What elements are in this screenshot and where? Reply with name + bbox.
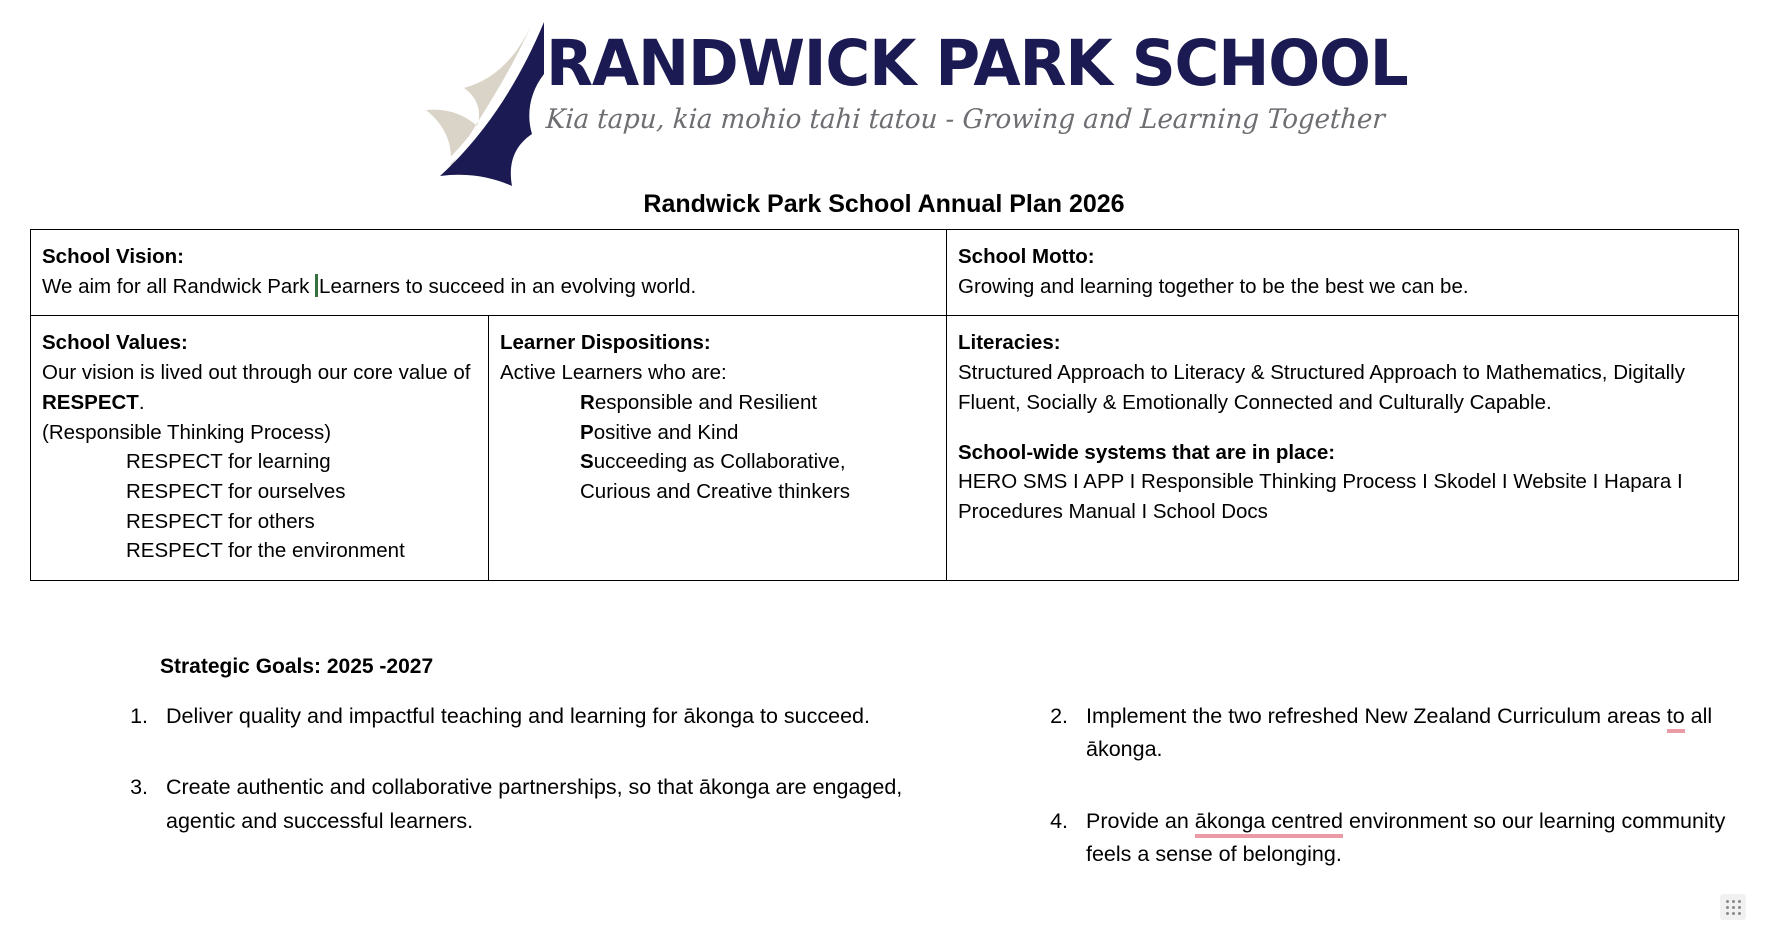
school-information-table: School Vision: We aim for all Randwick P… bbox=[30, 229, 1739, 581]
grid-dot bbox=[1738, 906, 1741, 909]
grid-dot bbox=[1732, 912, 1735, 915]
school-values-heading: School Values: bbox=[42, 328, 477, 358]
annual-plan-document: RANDWICK PARK SCHOOL Kia tapu, kia mohio… bbox=[0, 0, 1768, 938]
school-wide-systems-text: HERO SMS I APP I Responsible Thinking Pr… bbox=[958, 467, 1727, 526]
strategic-goals-column-right: 2. Implement the two refreshed New Zeala… bbox=[930, 700, 1740, 909]
values-respect-word: RESPECT bbox=[42, 391, 139, 414]
page-title: Randwick Park School Annual Plan 2026 bbox=[0, 190, 1768, 219]
goal-3-before: Create authentic and collaborative partn… bbox=[166, 775, 902, 832]
disposition-rest-0: esponsible and Resilient bbox=[595, 391, 817, 414]
strategic-goal-item-3[interactable]: 3. Create authentic and collaborative pa… bbox=[120, 771, 930, 838]
literacies-heading: Literacies: bbox=[958, 328, 1727, 358]
cell-literacies[interactable]: Literacies: Structured Approach to Liter… bbox=[947, 316, 1739, 581]
school-name-wordmark: RANDWICK PARK SCHOOL bbox=[546, 32, 1312, 95]
strategic-goal-item-1[interactable]: 1. Deliver quality and impactful teachin… bbox=[120, 700, 930, 733]
vision-text-after: Learners to succeed in an evolving world… bbox=[319, 275, 696, 298]
strategic-goal-item-4[interactable]: 4. Provide an ākonga centred environment… bbox=[1040, 805, 1740, 872]
grid-dots bbox=[1726, 900, 1741, 915]
goal-2-before: Implement the two refreshed New Zealand … bbox=[1086, 704, 1667, 728]
dispositions-intro: Active Learners who are: bbox=[500, 358, 935, 388]
cell-learner-dispositions[interactable]: Learner Dispositions: Active Learners wh… bbox=[489, 316, 947, 581]
school-vision-text: We aim for all Randwick Park Learners to… bbox=[42, 275, 696, 298]
disposition-rest-2: ucceeding as Collaborative, bbox=[594, 450, 846, 473]
goal-number-1: 1. bbox=[120, 700, 166, 733]
values-line2-suffix: . bbox=[139, 391, 145, 414]
goal-text-1: Deliver quality and impactful teaching a… bbox=[166, 700, 930, 733]
logo-text-block: RANDWICK PARK SCHOOL Kia tapu, kia mohio… bbox=[546, 32, 1336, 135]
disposition-initial-1: P bbox=[580, 421, 594, 444]
strategic-goals-heading: Strategic Goals: 2025 -2027 bbox=[160, 655, 433, 679]
literacies-text: Structured Approach to Literacy & Struct… bbox=[958, 358, 1727, 417]
school-wide-systems-heading: School-wide systems that are in place: bbox=[958, 438, 1727, 468]
goal-4-before: Provide an bbox=[1086, 809, 1195, 833]
goal-text-2: Implement the two refreshed New Zealand … bbox=[1086, 700, 1740, 767]
grid-dot bbox=[1726, 900, 1729, 903]
table-row-values-dispositions-literacies: School Values: Our vision is lived out t… bbox=[31, 316, 1739, 581]
disposition-item-0: Responsible and Resilient bbox=[500, 388, 935, 418]
grid-dot bbox=[1732, 900, 1735, 903]
strategic-goals-list: 1. Deliver quality and impactful teachin… bbox=[120, 700, 1740, 909]
school-logo-block: RANDWICK PARK SCHOOL Kia tapu, kia mohio… bbox=[398, 18, 1338, 178]
collaborator-text-caret bbox=[315, 274, 318, 297]
grid-handle-icon[interactable] bbox=[1720, 894, 1746, 920]
goal-number-2: 2. bbox=[1040, 700, 1086, 767]
goal-number-4: 4. bbox=[1040, 805, 1086, 872]
school-motto-heading: School Motto: bbox=[958, 242, 1727, 272]
grid-dot bbox=[1726, 912, 1729, 915]
school-tagline: Kia tapu, kia mohio tahi tatou - Growing… bbox=[545, 105, 1305, 135]
values-item-2: RESPECT for others bbox=[42, 507, 477, 537]
vision-text-before: We aim for all Randwick Park bbox=[42, 275, 315, 298]
table-row-vision-motto: School Vision: We aim for all Randwick P… bbox=[31, 230, 1739, 316]
grid-dot bbox=[1738, 900, 1741, 903]
values-item-3: RESPECT for the environment bbox=[42, 536, 477, 566]
disposition-initial-2: S bbox=[580, 450, 594, 473]
literacies-spacer bbox=[958, 418, 1727, 438]
learner-dispositions-heading: Learner Dispositions: bbox=[500, 328, 935, 358]
school-values-line1: Our vision is lived out through our core… bbox=[42, 361, 448, 384]
goal-number-3: 3. bbox=[120, 771, 166, 838]
values-item-0: RESPECT for learning bbox=[42, 447, 477, 477]
values-line2-prefix: of bbox=[453, 361, 470, 384]
cell-school-motto[interactable]: School Motto: Growing and learning toget… bbox=[947, 230, 1739, 316]
values-item-1: RESPECT for ourselves bbox=[42, 477, 477, 507]
cell-school-vision[interactable]: School Vision: We aim for all Randwick P… bbox=[31, 230, 947, 316]
school-leaf-logo-icon bbox=[398, 18, 548, 186]
grid-dot bbox=[1732, 906, 1735, 909]
disposition-rest-1: ositive and Kind bbox=[594, 421, 739, 444]
document-header: RANDWICK PARK SCHOOL Kia tapu, kia mohio… bbox=[0, 0, 1768, 200]
cell-school-values[interactable]: School Values: Our vision is lived out t… bbox=[31, 316, 489, 581]
goal-text-3: Create authentic and collaborative partn… bbox=[166, 771, 930, 838]
grid-dot bbox=[1738, 912, 1741, 915]
goal-text-4: Provide an ākonga centred environment so… bbox=[1086, 805, 1740, 872]
school-motto-text: Growing and learning together to be the … bbox=[958, 275, 1469, 298]
disposition-continuation: Curious and Creative thinkers bbox=[500, 477, 935, 507]
goal-1-before: Deliver quality and impactful teaching a… bbox=[166, 704, 870, 728]
goal-2-spellcheck-word[interactable]: to bbox=[1667, 704, 1685, 733]
school-values-line3: (Responsible Thinking Process) bbox=[42, 418, 477, 448]
disposition-item-2: Succeeding as Collaborative, bbox=[500, 447, 935, 477]
strategic-goals-column-left: 1. Deliver quality and impactful teachin… bbox=[120, 700, 930, 909]
disposition-initial-0: R bbox=[580, 391, 595, 414]
school-vision-heading: School Vision: bbox=[42, 242, 935, 272]
grid-dot bbox=[1726, 906, 1729, 909]
disposition-item-1: Positive and Kind bbox=[500, 418, 935, 448]
goal-4-spellcheck-word[interactable]: ākonga centred bbox=[1195, 809, 1343, 838]
strategic-goal-item-2[interactable]: 2. Implement the two refreshed New Zeala… bbox=[1040, 700, 1740, 767]
